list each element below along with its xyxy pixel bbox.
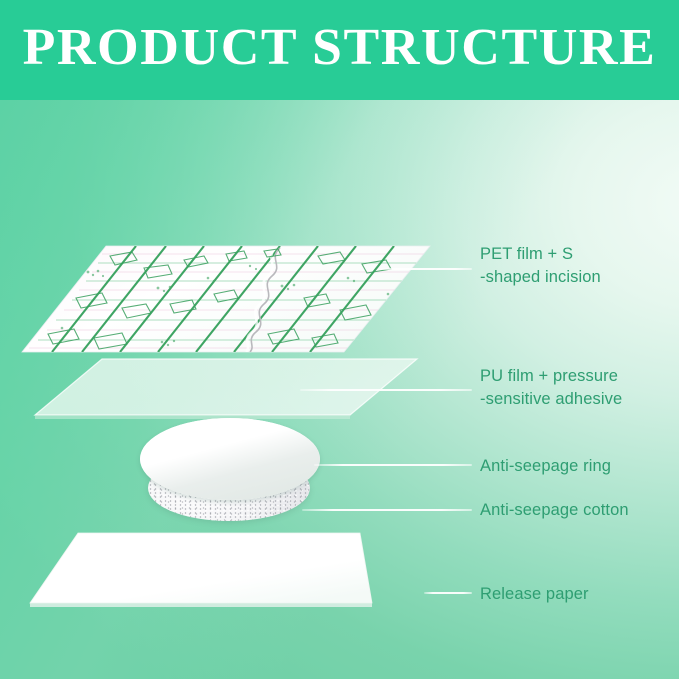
label-anti-seepage-ring: Anti-seepage ring xyxy=(480,455,611,478)
layer-release-paper xyxy=(20,525,432,621)
leader-line-release-paper xyxy=(424,592,472,594)
pet-film-graphic xyxy=(18,242,434,358)
pu-film-edge xyxy=(35,415,350,419)
label-release-paper: Release paper xyxy=(480,583,589,606)
pet-film-sheet xyxy=(22,246,430,352)
leader-line-anti-seepage-ring xyxy=(314,464,472,466)
product-structure-infographic: PRODUCT STRUCTURE xyxy=(0,0,679,679)
label-pet-film: PET film + S -shaped incision xyxy=(480,243,601,289)
layer-pet-film xyxy=(18,242,434,358)
label-anti-seepage-cotton: Anti-seepage cotton xyxy=(480,499,629,522)
leader-line-pu-film xyxy=(300,389,472,391)
leader-line-anti-seepage-cotton xyxy=(302,509,472,511)
release-paper-sheet xyxy=(30,533,372,603)
release-paper-graphic xyxy=(20,525,432,621)
page-title: PRODUCT STRUCTURE xyxy=(0,20,679,76)
layer-anti-seepage-ring xyxy=(140,418,320,500)
pu-film-sheet xyxy=(35,359,417,415)
release-paper-edge xyxy=(30,603,372,607)
header-banner: PRODUCT STRUCTURE xyxy=(0,0,679,100)
label-pu-film: PU film + pressure -sensitive adhesive xyxy=(480,365,622,411)
leader-line-pet-film xyxy=(380,268,472,270)
